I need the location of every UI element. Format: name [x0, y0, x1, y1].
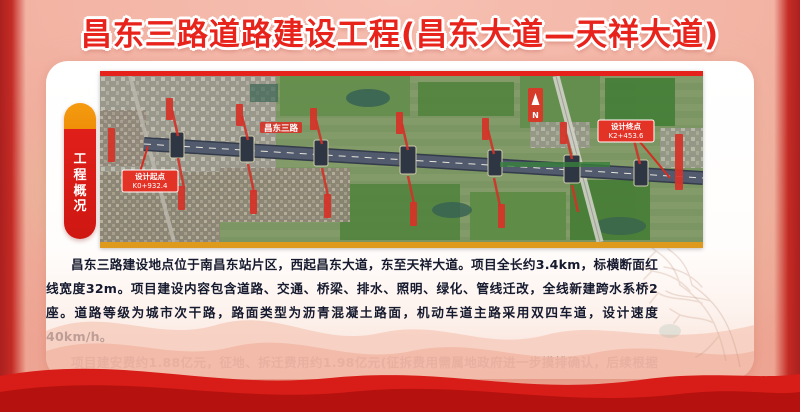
badge-char-4: 况 [73, 200, 86, 215]
badge-cap [64, 103, 96, 129]
map-top-band [100, 71, 703, 76]
page-title: 昌东三路道路建设工程(昌东大道—天祥大道) [0, 8, 800, 54]
project-alignment-map[interactable]: 昌东三路 N 设计起点 K0+932.4 [100, 71, 703, 248]
map-bottom-band [100, 242, 703, 248]
satellite-imagery: 昌东三路 N 设计起点 K0+932.4 [100, 76, 703, 242]
badge-body: 工 程 概 况 [64, 129, 96, 239]
poster-page: 昌东三路道路建设工程(昌东大道—天祥大道) [0, 0, 800, 412]
badge-char-3: 概 [73, 185, 86, 200]
bottom-wave-decoration [0, 346, 800, 412]
badge-char-1: 工 [73, 153, 86, 168]
section-badge-overview: 工 程 概 况 [64, 103, 96, 239]
badge-char-2: 程 [73, 169, 86, 184]
